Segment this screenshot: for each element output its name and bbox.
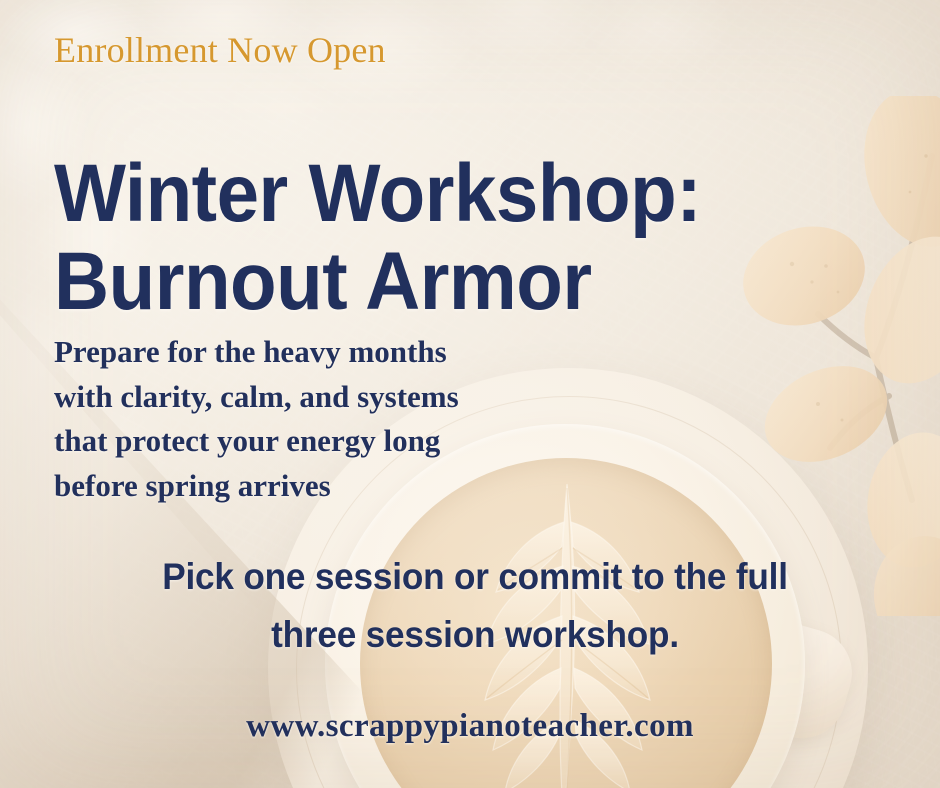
page-title: Winter Workshop: Burnout Armor bbox=[54, 150, 705, 327]
cta-text-block: Pick one session or commit to the full t… bbox=[100, 548, 851, 665]
eyebrow-text: Enrollment Now Open bbox=[54, 32, 386, 68]
subcopy-line-4: before spring arrives bbox=[54, 464, 674, 509]
subcopy-line-2: with clarity, calm, and systems bbox=[54, 375, 674, 420]
subcopy-line-3: that protect your energy long bbox=[54, 419, 674, 464]
subcopy-block: Prepare for the heavy months with clarit… bbox=[54, 330, 674, 509]
headline-line-1: Winter Workshop: bbox=[54, 150, 705, 239]
headline-line-2: Burnout Armor bbox=[54, 238, 705, 327]
website-url[interactable]: www.scrappypianoteacher.com bbox=[0, 708, 940, 745]
cta-line-2: three session workshop. bbox=[100, 606, 851, 664]
cta-line-1: Pick one session or commit to the full bbox=[100, 548, 851, 606]
subcopy-line-1: Prepare for the heavy months bbox=[54, 330, 674, 375]
promo-poster: Enrollment Now Open Winter Workshop: Bur… bbox=[0, 0, 940, 788]
poster-content: Enrollment Now Open Winter Workshop: Bur… bbox=[0, 0, 940, 788]
